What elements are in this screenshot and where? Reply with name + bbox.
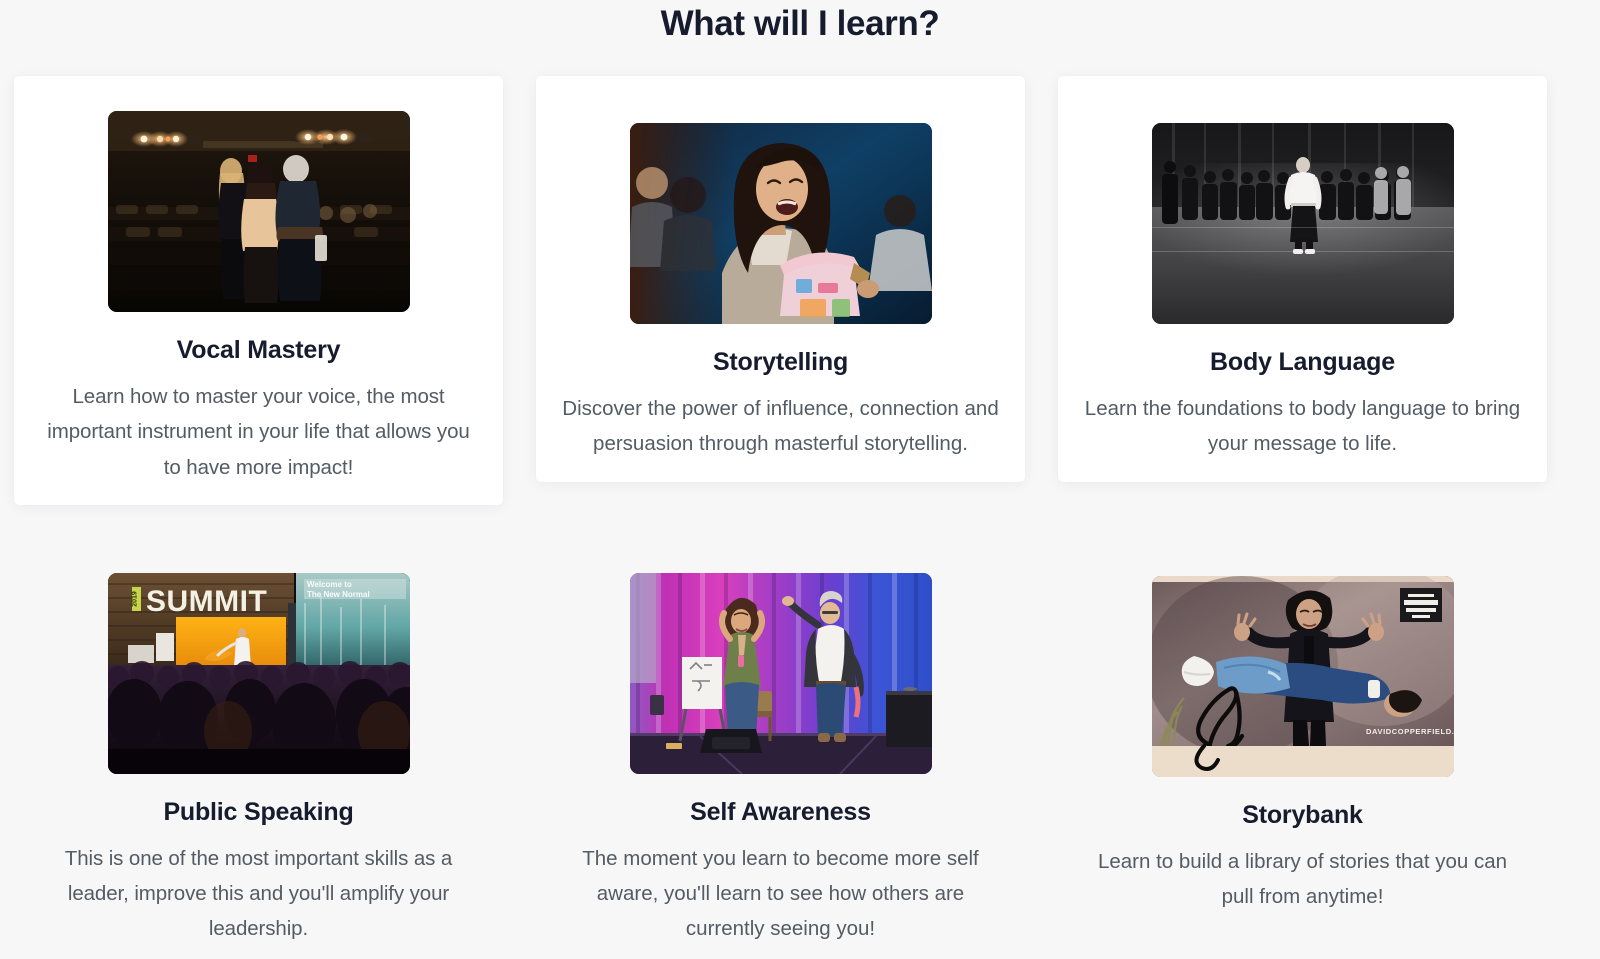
svg-text:2019: 2019 xyxy=(131,591,138,607)
card-title: Vocal Mastery xyxy=(38,335,479,365)
what-will-i-learn-section: What will I learn? xyxy=(0,0,1600,959)
learning-topics-grid: Vocal Mastery Learn how to master your v… xyxy=(14,76,1574,959)
page-title: What will I learn? xyxy=(0,4,1600,44)
svg-text:SUMMIT: SUMMIT xyxy=(146,585,267,618)
card-description: Discover the power of influence, connect… xyxy=(560,391,1001,462)
storytelling-photo xyxy=(630,123,932,324)
topic-card-vocal-mastery[interactable]: Vocal Mastery Learn how to master your v… xyxy=(14,76,503,505)
topic-card-storybank[interactable]: DAVIDCOPPERFIELD.COM Storybank Learn to … xyxy=(1058,538,1547,935)
storybank-photo: DAVIDCOPPERFIELD.COM xyxy=(1152,576,1454,777)
vocal-mastery-photo xyxy=(108,111,410,312)
card-description: Learn how to master your voice, the most… xyxy=(38,379,479,485)
body-language-photo xyxy=(1152,123,1454,324)
topic-card-self-awareness[interactable]: Self Awareness The moment you learn to b… xyxy=(536,538,1025,959)
self-awareness-photo xyxy=(630,573,932,774)
public-speaking-photo: 2019 SUMMIT Welcome to The New Normal xyxy=(108,573,410,774)
card-description: Learn the foundations to body language t… xyxy=(1082,391,1523,462)
card-description: The moment you learn to become more self… xyxy=(560,841,1001,947)
card-title: Self Awareness xyxy=(560,797,1001,827)
card-title: Storybank xyxy=(1082,800,1523,830)
card-description: This is one of the most important skills… xyxy=(38,841,479,947)
svg-text:Welcome to: Welcome to xyxy=(307,580,352,589)
svg-text:The New Normal: The New Normal xyxy=(307,590,370,599)
card-description: Learn to build a library of stories that… xyxy=(1082,844,1523,915)
topic-card-storytelling[interactable]: Storytelling Discover the power of influ… xyxy=(536,76,1025,482)
card-title: Storytelling xyxy=(560,347,1001,377)
topic-card-body-language[interactable]: Body Language Learn the foundations to b… xyxy=(1058,76,1547,482)
topic-card-public-speaking[interactable]: 2019 SUMMIT Welcome to The New Normal xyxy=(14,538,503,959)
card-title: Public Speaking xyxy=(38,797,479,827)
photo-watermark: DAVIDCOPPERFIELD.COM xyxy=(1366,727,1454,736)
card-title: Body Language xyxy=(1082,347,1523,377)
